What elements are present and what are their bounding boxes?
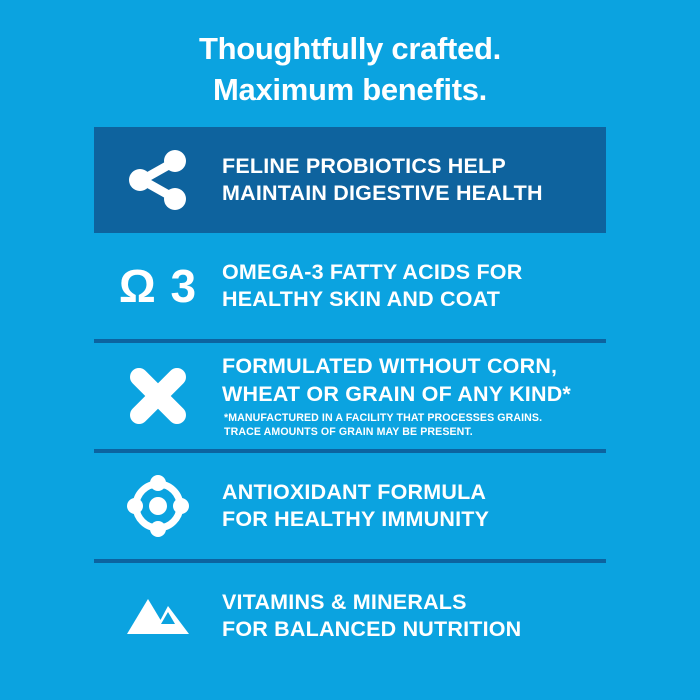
omega-3-icon: Ω 3 — [94, 233, 222, 339]
share-icon — [94, 127, 222, 233]
feature-line-1: VITAMINS & MINERALS — [222, 589, 600, 617]
headline-line-1: Thoughtfully crafted. — [0, 28, 700, 69]
feature-line-2: MAINTAIN DIGESTIVE HEALTH — [222, 180, 600, 208]
feature-line-1: FORMULATED WITHOUT CORN, — [222, 353, 600, 381]
feature-line-1: OMEGA-3 FATTY ACIDS FOR — [222, 259, 600, 287]
feature-text-omega3: OMEGA-3 FATTY ACIDS FOR HEALTHY SKIN AND… — [222, 259, 606, 315]
feature-line-2: FOR HEALTHY IMMUNITY — [222, 506, 600, 534]
feature-line-2: HEALTHY SKIN AND COAT — [222, 286, 600, 314]
page-title: Thoughtfully crafted. Maximum benefits. — [0, 0, 700, 110]
feature-line-2: WHEAT OR GRAIN OF ANY KIND* — [222, 381, 600, 409]
feature-line-1: ANTIOXIDANT FORMULA — [222, 479, 600, 507]
omega-3-glyph: Ω 3 — [119, 263, 197, 309]
disclaimer-line-2: TRACE AMOUNTS OF GRAIN MAY BE PRESENT. — [224, 426, 600, 440]
feature-text-antioxidant: ANTIOXIDANT FORMULA FOR HEALTHY IMMUNITY — [222, 479, 606, 535]
feature-row-vitamins: VITAMINS & MINERALS FOR BALANCED NUTRITI… — [94, 563, 606, 669]
feature-text-vitamins: VITAMINS & MINERALS FOR BALANCED NUTRITI… — [222, 589, 606, 645]
feature-line-1: FELINE PROBIOTICS HELP — [222, 153, 600, 181]
feature-row-omega3: Ω 3 OMEGA-3 FATTY ACIDS FOR HEALTHY SKIN… — [94, 233, 606, 339]
x-cross-icon — [94, 343, 222, 449]
headline-line-2: Maximum benefits. — [0, 69, 700, 110]
feature-text-grain-free: FORMULATED WITHOUT CORN, WHEAT OR GRAIN … — [222, 353, 606, 439]
feature-row-grain-free: FORMULATED WITHOUT CORN, WHEAT OR GRAIN … — [94, 343, 606, 449]
feature-line-2: FOR BALANCED NUTRITION — [222, 616, 600, 644]
promo-poster: Thoughtfully crafted. Maximum benefits. … — [0, 0, 700, 700]
feature-list: FELINE PROBIOTICS HELP MAINTAIN DIGESTIV… — [94, 127, 606, 669]
grain-disclaimer: *MANUFACTURED IN A FACILITY THAT PROCESS… — [222, 412, 600, 439]
feature-row-probiotics: FELINE PROBIOTICS HELP MAINTAIN DIGESTIV… — [94, 127, 606, 233]
mountains-icon — [94, 563, 222, 669]
feature-row-antioxidant: ANTIOXIDANT FORMULA FOR HEALTHY IMMUNITY — [94, 453, 606, 559]
feature-text-probiotics: FELINE PROBIOTICS HELP MAINTAIN DIGESTIV… — [222, 153, 606, 209]
antioxidant-molecule-icon — [94, 453, 222, 559]
disclaimer-line-1: *MANUFACTURED IN A FACILITY THAT PROCESS… — [224, 412, 600, 426]
